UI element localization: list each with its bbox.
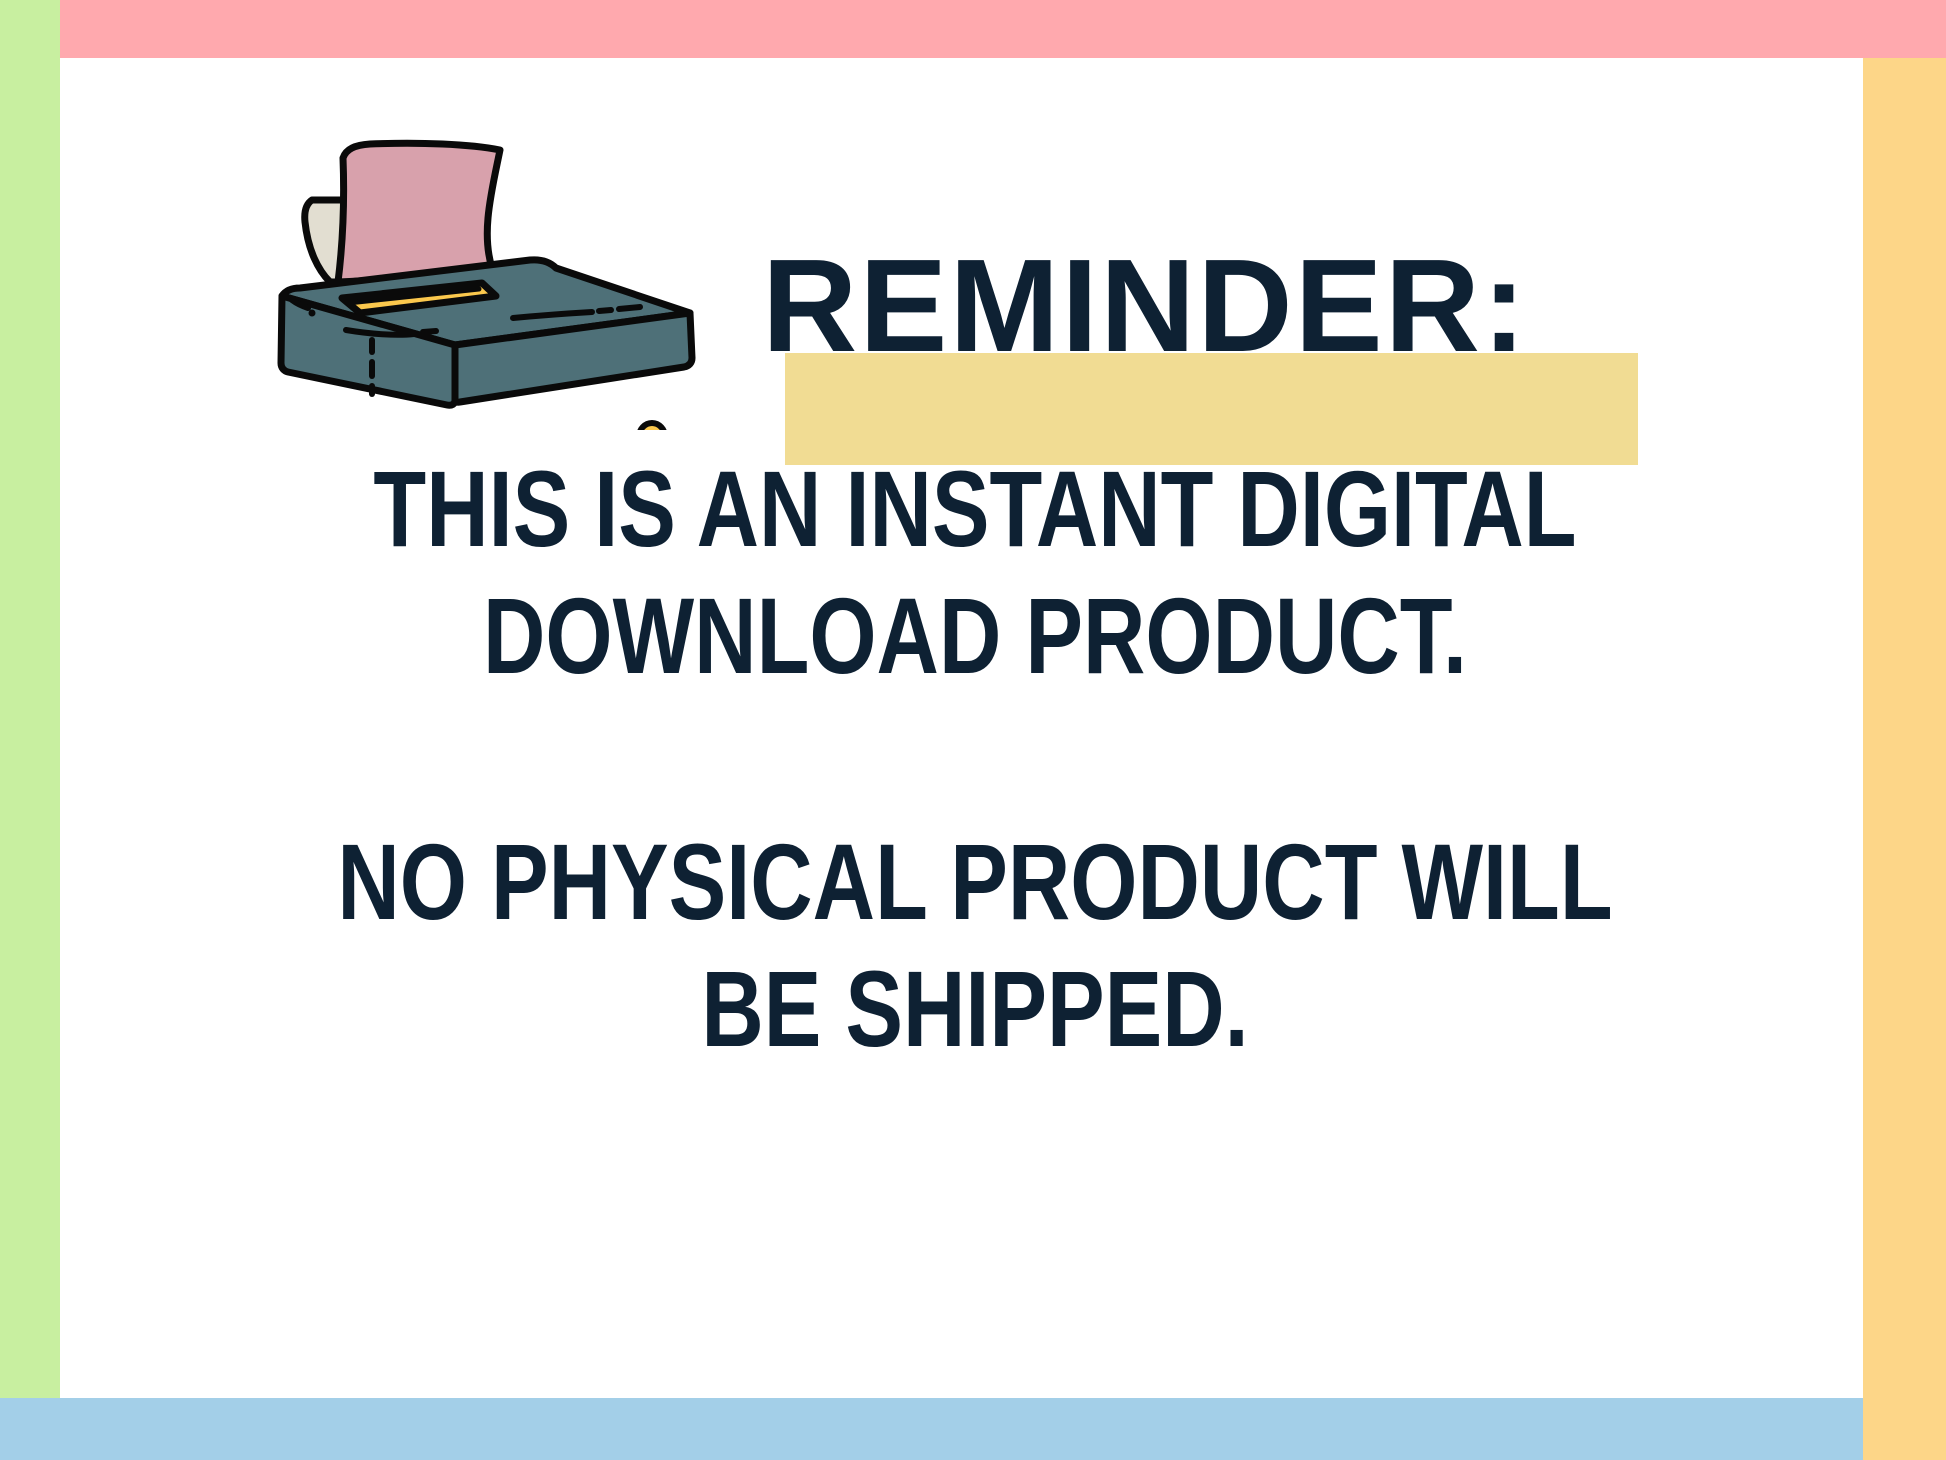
body-line-3: NO PHYSICAL PRODUCT WILL <box>315 818 1635 945</box>
body-line-2: DOWNLOAD PRODUCT. <box>315 572 1635 699</box>
printer-seam-dash-a <box>423 331 436 332</box>
border-band-top <box>60 0 1946 58</box>
body-line-4: BE SHIPPED. <box>315 945 1635 1072</box>
headline-block: REMINDER: <box>640 200 1650 470</box>
border-band-right <box>1863 58 1946 1460</box>
printer-dot-corner <box>309 310 316 317</box>
poster-canvas: REMINDER: THIS IS AN INSTANT DIGITAL DOW… <box>0 0 1946 1460</box>
printer-feed-paper <box>338 143 500 282</box>
border-band-left <box>0 0 60 1398</box>
printer-icon <box>200 100 710 430</box>
body-paragraph-gap <box>150 700 1800 818</box>
body-copy-block: THIS IS AN INSTANT DIGITAL DOWNLOAD PROD… <box>150 445 1800 1073</box>
printer-seam-dash-b <box>599 310 611 311</box>
page-title: REMINDER: <box>640 200 1650 372</box>
body-line-1: THIS IS AN INSTANT DIGITAL <box>315 445 1635 572</box>
printer-seam-dash-c <box>619 307 640 309</box>
border-band-bottom <box>0 1398 1863 1460</box>
